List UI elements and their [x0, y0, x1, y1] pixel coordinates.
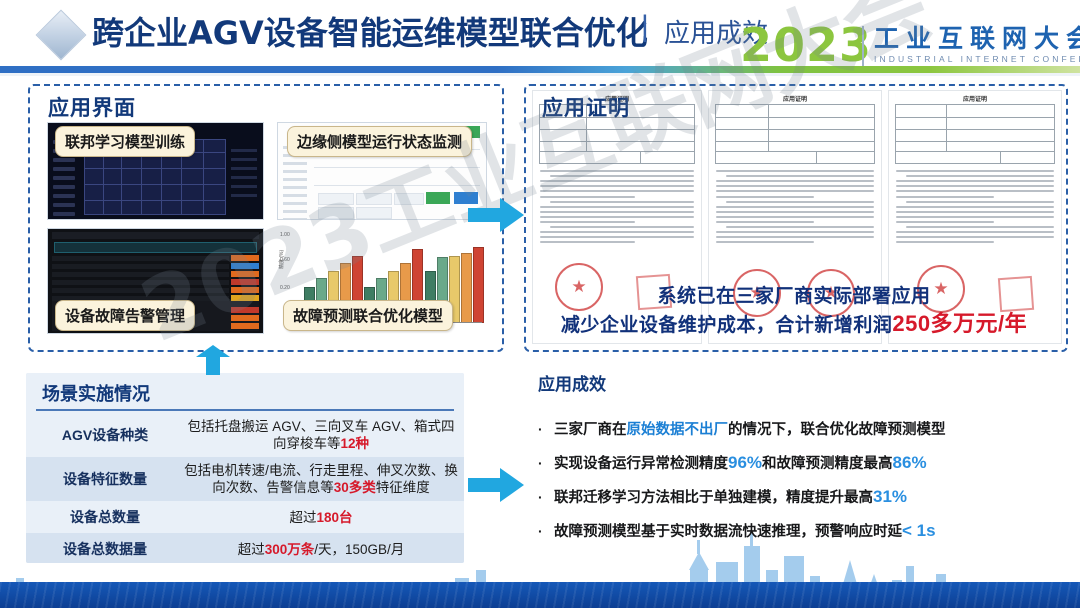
- scene-row-value-1: 包括电机转速/电流、行走里程、伸叉次数、换向次数、告警信息等30多类特征维度: [184, 462, 464, 496]
- certificate-body-1: [540, 167, 694, 247]
- slide-root: 跨企业AGV设备智能运维模型联合优化 | 应用成效 2023 工业互联网大会 I…: [0, 0, 1080, 608]
- certificate-body-3: [896, 167, 1054, 247]
- bullet-highlight-1: 96%: [728, 453, 762, 472]
- conference-name-en: INDUSTRIAL INTERNET CONFERENCE: [874, 54, 1080, 64]
- conference-year: 2023: [740, 22, 872, 68]
- scene-value-post-3: /天，150GB/月: [314, 542, 404, 557]
- caption-edge-monitoring: 边缘侧模型运行状态监测: [287, 126, 472, 157]
- table-row: 设备总数量 超过180台: [26, 501, 464, 533]
- table-row: AGV设备种类 包括托盘搬运 AGV、三向叉车 AGV、箱式四向穿梭车等12种: [26, 413, 464, 457]
- list-item: ·实现设备运行异常检测精度96%和故障预测精度最高86%: [538, 452, 1058, 473]
- certificate-heading-3: 应用证明: [889, 94, 1061, 103]
- app-interface-title: 应用界面: [48, 92, 136, 122]
- footer-band: [0, 582, 1080, 608]
- scene-value-highlight-2: 180台: [316, 510, 352, 525]
- certificate-table-3: [895, 104, 1055, 164]
- table-row: 设备特征数量 包括电机转速/电流、行走里程、伸叉次数、换向次数、告警信息等30多…: [26, 457, 464, 501]
- effect-panel-title: 应用成效: [538, 370, 1064, 395]
- bullet-highlight-3: < 1s: [902, 521, 936, 540]
- bullet-dot-3: ·: [538, 523, 554, 539]
- proof-overlay-text: 系统已在三家厂商实际部署应用 减少企业设备维护成本，合计新增利润250多万元/年: [524, 284, 1064, 346]
- arrow-right-icon-lower: [468, 468, 524, 502]
- list-item: ·故障预测模型基于实时数据流快速推理，预警响应时延< 1s: [538, 520, 1058, 541]
- bullet-highlight-0: 原始数据不出厂: [627, 422, 729, 438]
- scene-row-value-3: 超过300万条/天，150GB/月: [184, 541, 464, 558]
- proof-overlay-line1: 系统已在三家厂商实际部署应用: [524, 284, 1064, 310]
- scene-implementation-table: 场景实施情况 AGV设备种类 包括托盘搬运 AGV、三向叉车 AGV、箱式四向穿…: [26, 373, 464, 563]
- list-item: ·联邦迁移学习方法相比于单独建模，精度提升最高31%: [538, 486, 1058, 507]
- bullet-highlight-2: 31%: [873, 487, 907, 506]
- scene-value-highlight-0: 12种: [340, 436, 369, 451]
- arrow-up-icon: [196, 345, 230, 375]
- scene-value-pre-3: 超过: [238, 542, 265, 557]
- arrow-right-icon-middle: [468, 198, 524, 232]
- scene-row-key-0: AGV设备种类: [26, 425, 184, 445]
- scene-row-value-0: 包括托盘搬运 AGV、三向叉车 AGV、箱式四向穿梭车等12种: [184, 418, 464, 452]
- bullet-pre-3: 故障预测模型基于实时数据流快速推理，预警响应时延: [554, 524, 902, 540]
- bullet-highlight-1b: 86%: [893, 453, 927, 472]
- caption-alarm-management: 设备故障告警管理: [55, 300, 195, 331]
- caption-fault-prediction-model: 故障预测联合优化模型: [283, 300, 453, 331]
- scene-value-highlight-3: 300万条: [265, 542, 315, 557]
- header-rule: [0, 66, 1080, 73]
- app-proof-title: 应用证明: [542, 92, 630, 122]
- fl-right-widget: [229, 143, 259, 207]
- table-row: 设备总数据量 超过300万条/天，150GB/月: [26, 533, 464, 563]
- certificate-body-2: [716, 167, 874, 247]
- chart-ylabel: 精度 (%): [278, 250, 285, 269]
- proof-overlay-line2: 减少企业设备维护成本，合计新增利润250多万元/年: [524, 310, 1064, 340]
- app-interface-panel: 应用界面 联邦学习模型训练: [28, 84, 504, 352]
- proof-overlay-highlight: 250多万元/年: [892, 311, 1027, 336]
- bullet-post-0: 的情况下，联合优化故障预测模型: [728, 422, 946, 438]
- caption-federated-training: 联邦学习模型训练: [55, 126, 195, 157]
- scene-row-key-2: 设备总数量: [26, 507, 184, 527]
- alarm-topbar: [52, 232, 259, 239]
- scene-table-title: 场景实施情况: [26, 373, 464, 407]
- conference-name-cn: 工业互联网大会: [874, 26, 1080, 52]
- page-title: 跨企业AGV设备智能运维模型联合优化: [92, 8, 648, 54]
- bullet-pre-1: 实现设备运行异常检测精度: [554, 456, 728, 472]
- list-item: ·三家厂商在原始数据不出厂的情况下，联合优化故障预测模型: [538, 418, 1058, 439]
- bar-3: [461, 253, 472, 323]
- chart-ytick-2: 0.20: [280, 285, 290, 291]
- scene-row-key-1: 设备特征数量: [26, 469, 184, 489]
- slide-header: 跨企业AGV设备智能运维模型联合优化 | 应用成效 2023 工业互联网大会 I…: [0, 0, 1080, 72]
- certificate-table-2: [715, 104, 875, 164]
- bullet-dot-2: ·: [538, 489, 554, 505]
- scene-value-pre-2: 超过: [289, 510, 316, 525]
- scene-value-highlight-1: 30多类: [334, 480, 376, 495]
- chart-ytick-0: 1.00: [280, 232, 290, 238]
- logo-divider: [862, 26, 864, 66]
- alarm-search-field[interactable]: [54, 242, 257, 253]
- scene-row-value-2: 超过180台: [184, 509, 464, 526]
- scene-row-key-3: 设备总数据量: [26, 539, 184, 559]
- bullet-dot-1: ·: [538, 455, 554, 471]
- proof-overlay-line2-text: 减少企业设备维护成本，合计新增利润: [561, 315, 893, 336]
- certificate-heading-2: 应用证明: [709, 94, 881, 103]
- scene-value-post-1: 特征维度: [376, 480, 430, 495]
- title-separator: |: [641, 10, 649, 44]
- bullet-post-1: 和故障预测精度最高: [762, 456, 893, 472]
- diamond-bullet-icon: [36, 10, 87, 61]
- header-rule-secondary: [0, 73, 1080, 76]
- bullet-pre-2: 联邦迁移学习方法相比于单独建模，精度提升最高: [554, 490, 873, 506]
- application-effect-panel: 应用成效 ·三家厂商在原始数据不出厂的情况下，联合优化故障预测模型 ·实现设备运…: [524, 368, 1064, 568]
- scene-value-pre-0: 包括托盘搬运 AGV、三向叉车 AGV、箱式四向穿梭车等: [187, 419, 454, 451]
- bar-4: [473, 247, 484, 323]
- bullet-pre-0: 三家厂商在: [554, 422, 627, 438]
- bullet-dot-0: ·: [538, 421, 554, 437]
